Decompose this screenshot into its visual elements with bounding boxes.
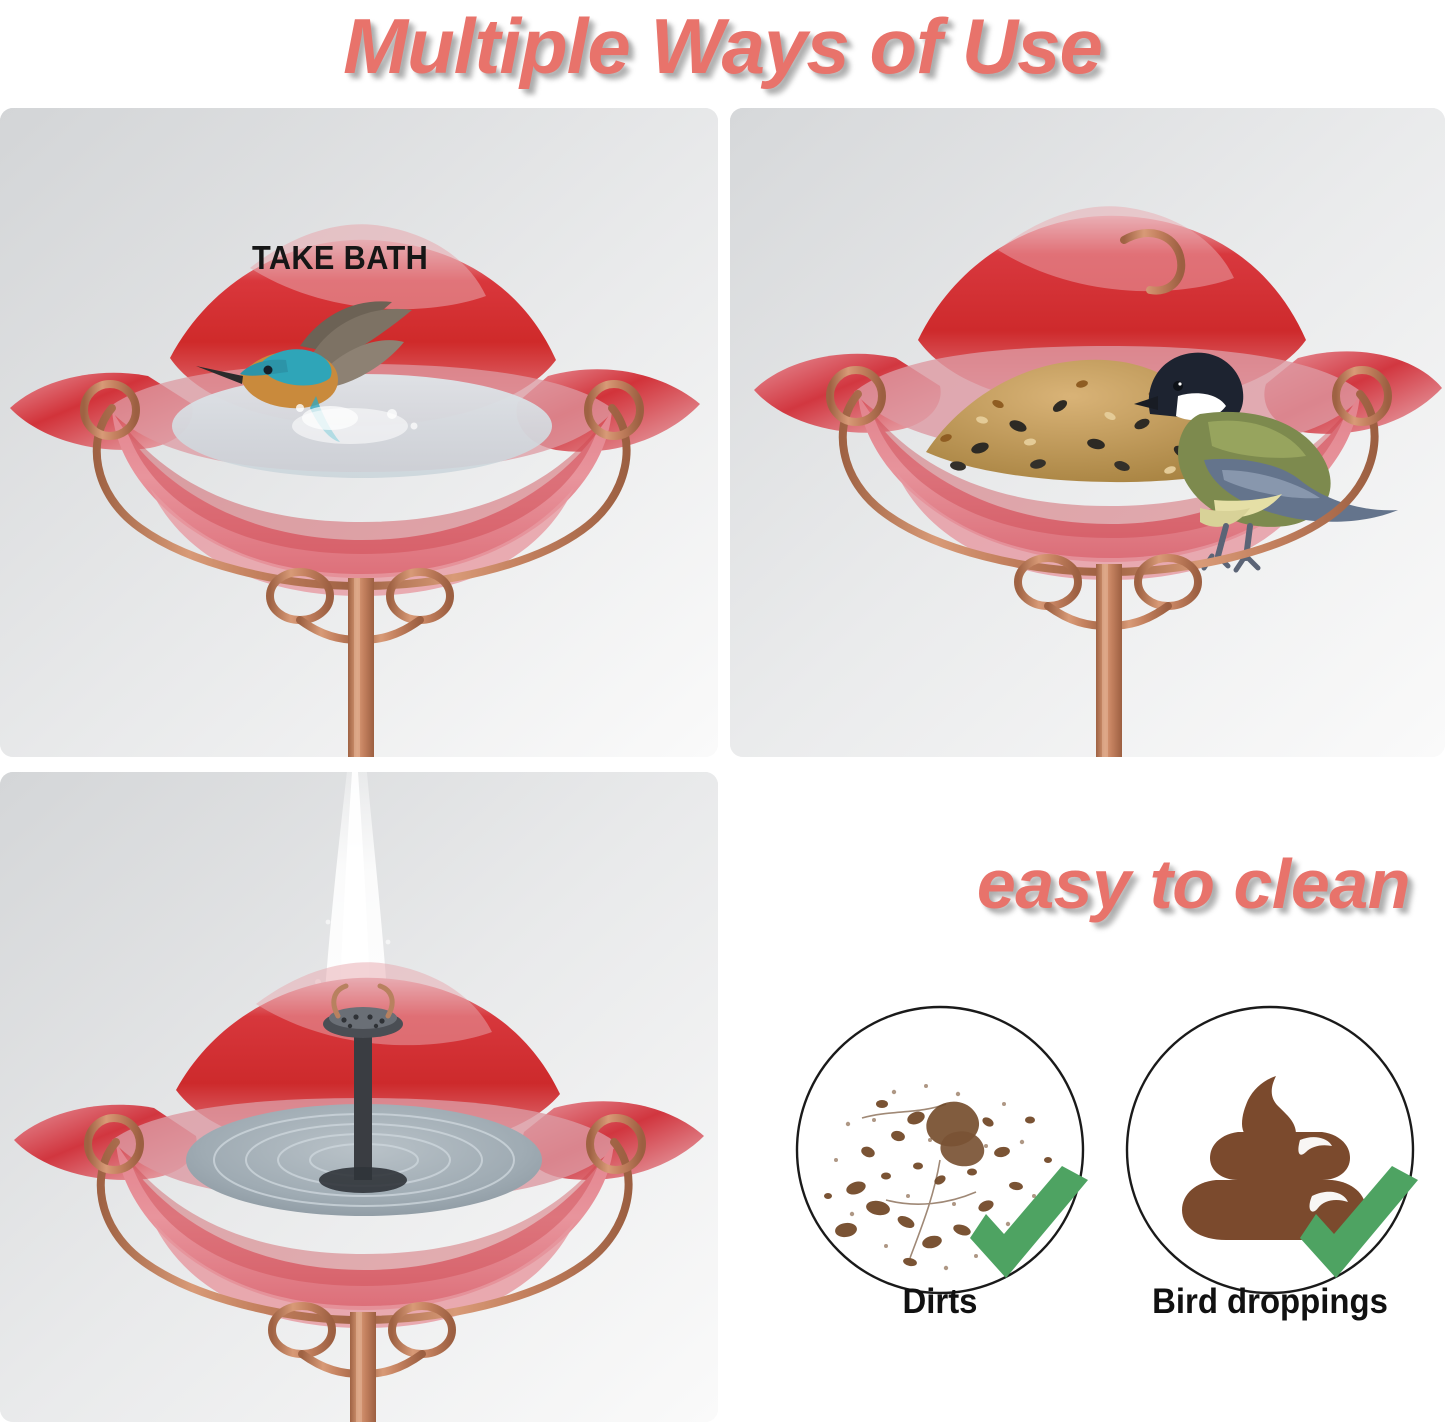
clean-item-dirts: Dirts: [790, 1000, 1090, 1330]
clean-item-bird-droppings: Bird droppings: [1120, 1000, 1420, 1330]
easy-to-clean-heading: easy to clean: [728, 838, 1428, 930]
panel-fountain-view: FOUNTAIN VIEW: [0, 772, 718, 1422]
dirt-specks-icon: [790, 1000, 1090, 1300]
panel-eat-food-drink-water: EAT FOOD & DRINK WATER: [730, 108, 1445, 757]
clean-caption-dirts: Dirts: [799, 1282, 1081, 1322]
birdbath-illustration-bath: [0, 108, 718, 757]
page-title: Multiple Ways of Use: [0, 0, 1445, 94]
poop-icon: [1120, 1000, 1420, 1300]
birdfeeder-illustration-food: [730, 108, 1445, 757]
fountain-illustration: [0, 772, 718, 1422]
panel-label-take-bath: TAKE BATH: [252, 239, 428, 277]
panel-take-bath: TAKE BATH: [0, 108, 718, 757]
clean-caption-bird-droppings: Bird droppings: [1129, 1282, 1411, 1322]
